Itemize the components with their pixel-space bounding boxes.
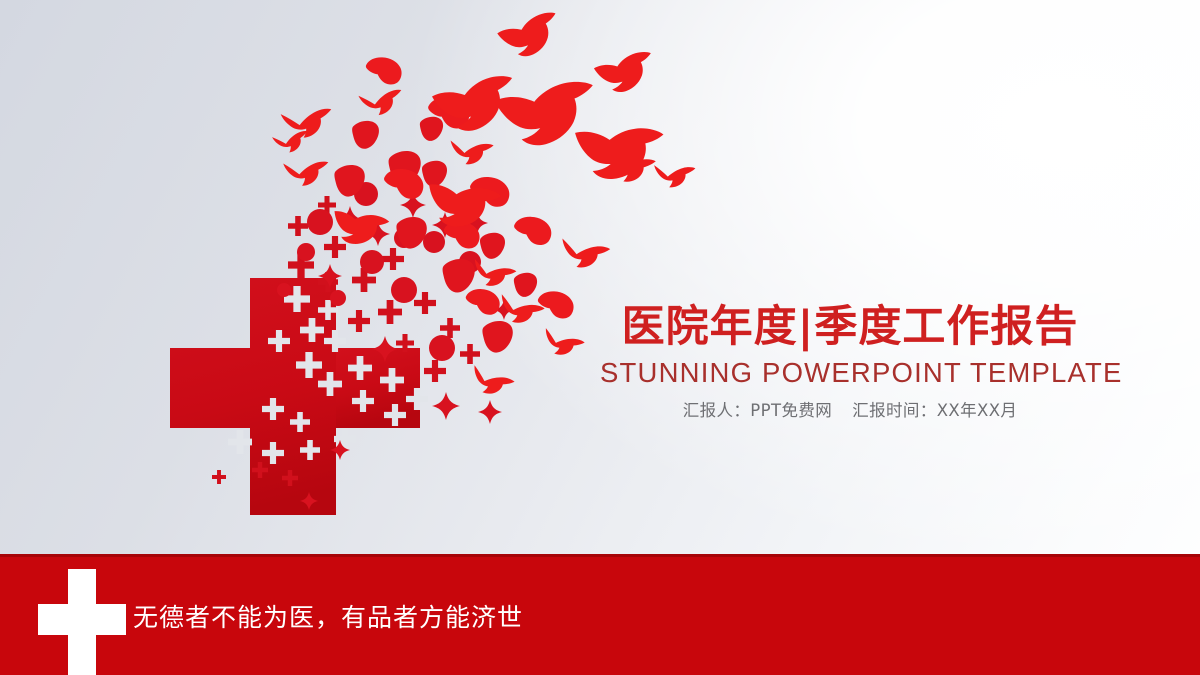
reporter-value: PPT免费网 [750, 401, 832, 420]
medical-cross-icon [38, 569, 126, 675]
particle-stars [300, 192, 514, 510]
dove-flock-large [328, 10, 664, 251]
proto-birds [366, 57, 574, 318]
cross-dissolve-holes [228, 286, 428, 464]
date-label: 汇报时间： [852, 401, 937, 420]
presentation-slide: 医院年度|季度工作报告 STUNNING POWERPOINT TEMPLATE… [0, 0, 1200, 675]
cross-logo-solid [170, 278, 420, 515]
date-value: XX年XX月 [937, 401, 1018, 420]
title-block: 医院年度|季度工作报告 STUNNING POWERPOINT TEMPLATE… [600, 305, 1100, 421]
reporter-label: 汇报人： [683, 401, 751, 420]
particle-blobs [334, 117, 537, 353]
page-title: 医院年度|季度工作报告 [600, 305, 1100, 351]
particle-crosses [212, 196, 480, 486]
bottom-banner: 无德者不能为医，有品者方能济世 [0, 554, 1200, 675]
particle-circles [277, 182, 481, 361]
meta-line: 汇报人：PPT免费网汇报时间：XX年XX月 [600, 397, 1100, 421]
page-subtitle: STUNNING POWERPOINT TEMPLATE [600, 358, 1100, 388]
hero-artwork [0, 0, 1200, 560]
banner-slogan: 无德者不能为医，有品者方能济世 [133, 598, 523, 634]
